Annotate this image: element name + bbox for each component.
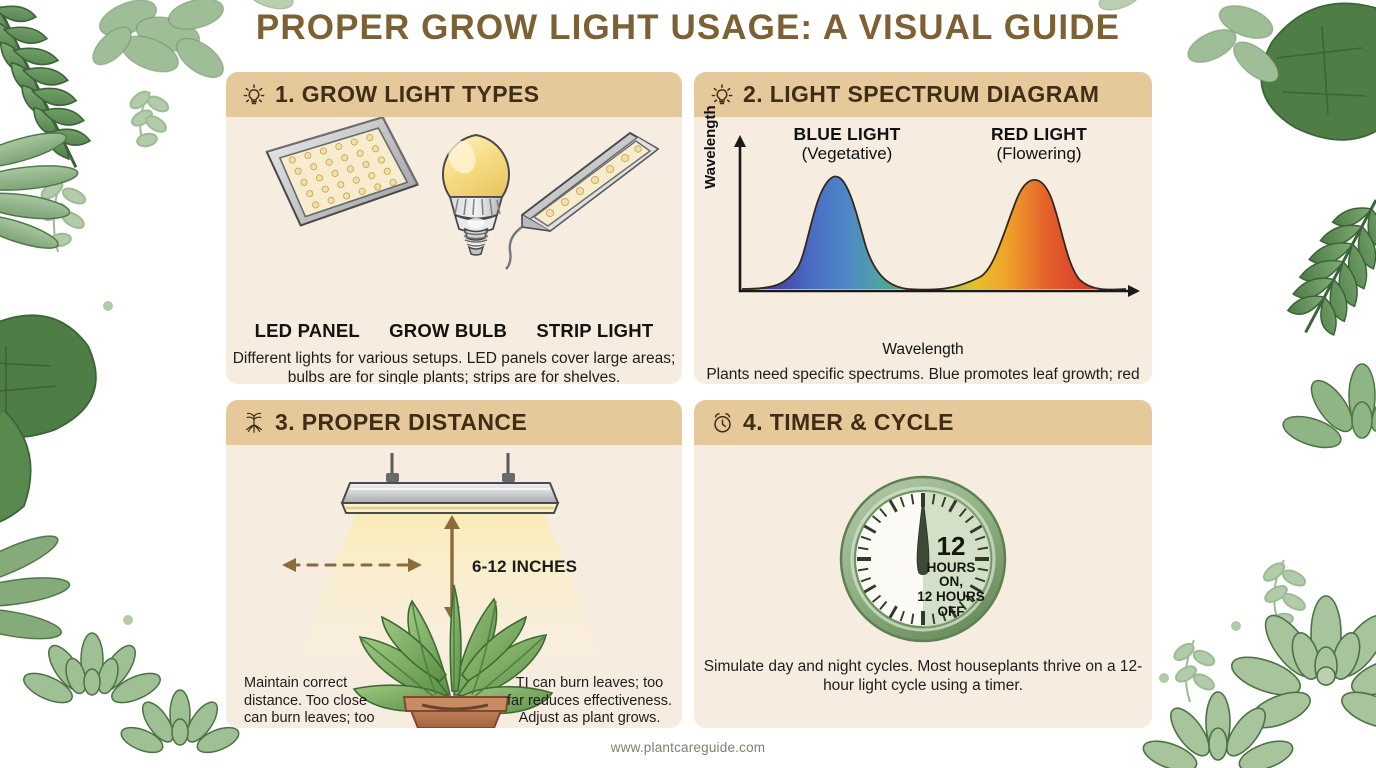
lightbulb-icon: [708, 81, 736, 109]
foliage-border-left: [0, 0, 250, 768]
strip-light-illustration: [506, 133, 658, 269]
card1-body: LED PANEL GROW BULB STRIP LIGHT Differen…: [226, 117, 682, 322]
foliage-border-right: [1126, 0, 1376, 768]
spectrum-x-axis-label: Wavelength: [694, 341, 1152, 359]
red-light-title: RED LIGHT: [991, 124, 1087, 144]
card2-body: Wavelength Wavelength BLUE LIGHT (Vegeta…: [694, 117, 1152, 332]
spectrum-y-axis-label: Wavelength: [702, 105, 719, 189]
lightbulb-icon: [240, 81, 268, 109]
card-grow-light-types: 1. GROW LIGHT TYPES: [226, 72, 682, 384]
card3-header: 3. PROPER DISTANCE: [226, 400, 682, 445]
clock-line2: ON,: [939, 574, 963, 589]
alarm-clock-icon: [708, 409, 736, 437]
blue-light-subtitle: (Vegetative): [802, 144, 893, 163]
card1-header: 1. GROW LIGHT TYPES: [226, 72, 682, 117]
clock-line1: HOURS: [927, 560, 976, 575]
card3-body: 6-12 INCHES Maintain correct distance. T…: [226, 445, 682, 728]
card-proper-distance: 3. PROPER DISTANCE: [226, 400, 682, 728]
led-panel-illustration: [264, 117, 421, 229]
card-timer-and-cycle: 4. TIMER & CYCLE: [694, 400, 1152, 728]
grow-light-illustrations: [226, 117, 682, 317]
timer-clock-illustration: 12 HOURS ON, 12 HOURS OFF: [823, 459, 1023, 659]
card4-heading: 4. TIMER & CYCLE: [743, 409, 954, 436]
blue-light-title: BLUE LIGHT: [794, 124, 901, 144]
distance-note-right: TI can burn leaves; too far reduces effe…: [507, 675, 672, 728]
card4-caption: Simulate day and night cycles. Most hous…: [694, 657, 1152, 695]
card2-heading: 2. LIGHT SPECTRUM DIAGRAM: [743, 81, 1099, 108]
red-light-annotation: RED LIGHT (Flowering): [944, 125, 1134, 163]
card-light-spectrum-diagram: 2. LIGHT SPECTRUM DIAGRAM: [694, 72, 1152, 384]
infographic-canvas: PROPER GROW LIGHT USAGE: A VISUAL GUIDE …: [0, 0, 1376, 768]
card4-header: 4. TIMER & CYCLE: [694, 400, 1152, 445]
card1-heading: 1. GROW LIGHT TYPES: [275, 81, 539, 108]
light-label-led-panel: LED PANEL: [255, 320, 360, 342]
sprout-roots-icon: [240, 409, 268, 437]
card2-caption: Plants need specific spectrums. Blue pro…: [694, 365, 1152, 384]
distance-label: 6-12 INCHES: [472, 557, 577, 577]
clock-big-number: 12: [937, 531, 966, 561]
light-type-labels: LED PANEL GROW BULB STRIP LIGHT: [226, 320, 682, 342]
distance-note-left: Maintain correct distance. Too close can…: [244, 675, 394, 728]
light-label-strip-light: STRIP LIGHT: [536, 320, 653, 342]
blue-light-annotation: BLUE LIGHT (Vegetative): [752, 125, 942, 163]
card1-caption: Different lights for various setups. LED…: [226, 349, 682, 384]
red-light-subtitle: (Flowering): [996, 144, 1081, 163]
light-label-grow-bulb: GROW BULB: [389, 320, 507, 342]
grow-bulb-illustration: [443, 135, 509, 255]
clock-line4: OFF: [938, 604, 965, 619]
clock-line3: 12 HOURS: [917, 589, 985, 604]
card3-heading: 3. PROPER DISTANCE: [275, 409, 527, 436]
card2-header: 2. LIGHT SPECTRUM DIAGRAM: [694, 72, 1152, 117]
footer-url: www.plantcareguide.com: [0, 740, 1376, 755]
page-title: PROPER GROW LIGHT USAGE: A VISUAL GUIDE: [0, 8, 1376, 48]
